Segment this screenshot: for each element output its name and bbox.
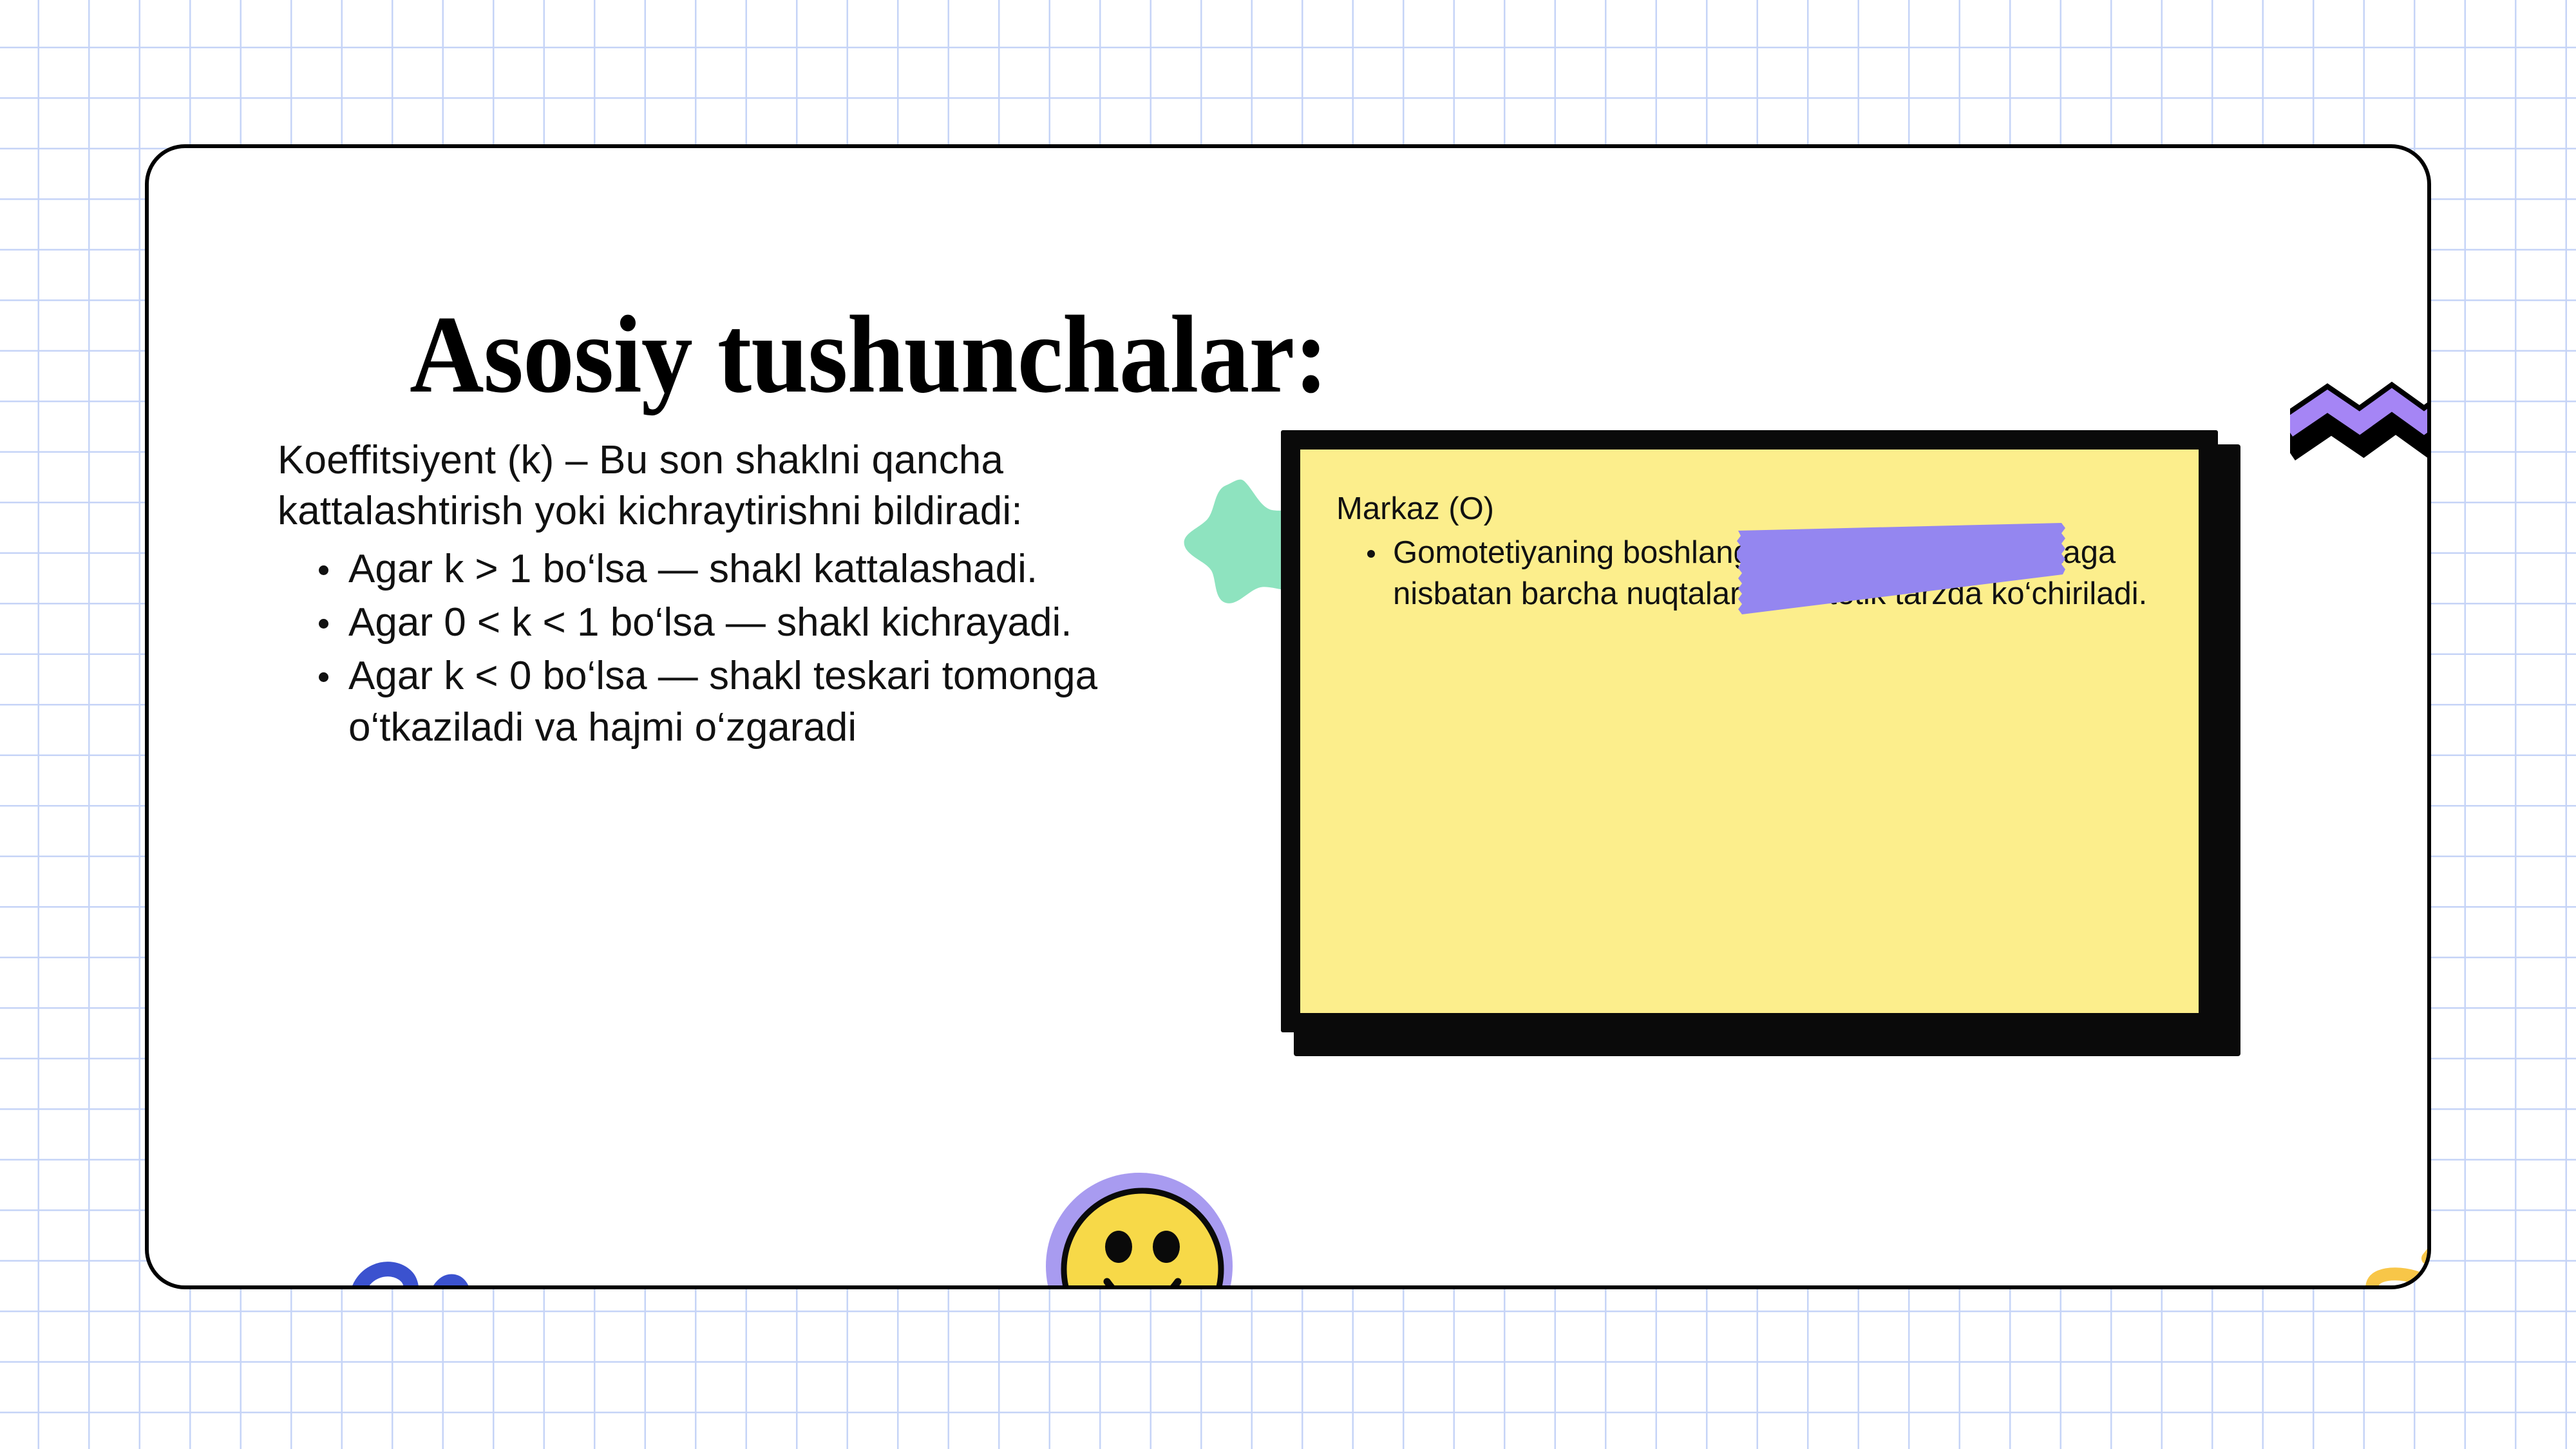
list-item: Agar k < 0 bo‘lsa — shakl teskari tomong… bbox=[317, 650, 1192, 753]
squiggle-icon bbox=[336, 1243, 542, 1289]
left-content-column: Koeffitsiyent (k) – Bu son shaklni qanch… bbox=[278, 435, 1192, 755]
lead-paragraph: Koeffitsiyent (k) – Bu son shaklni qanch… bbox=[278, 435, 1192, 537]
list-item: Agar 0 < k < 1 bo‘lsa — shakl kichrayadi… bbox=[317, 597, 1192, 648]
zigzag-icon bbox=[2290, 377, 2431, 460]
page-title: Asosiy tushunchalar: bbox=[410, 299, 1328, 410]
coefficient-bullet-list: Agar k > 1 bo‘lsa — shakl kattalashadi. … bbox=[278, 544, 1192, 753]
smiley-face-icon bbox=[1037, 1164, 1244, 1289]
list-item: Agar k > 1 bo‘lsa — shakl kattalashadi. bbox=[317, 544, 1192, 594]
curly-arrow-icon bbox=[2342, 1190, 2431, 1289]
slide-card: Asosiy tushunchalar: Koeffitsiyent (k) –… bbox=[145, 144, 2431, 1289]
slide-root: Asosiy tushunchalar: Koeffitsiyent (k) –… bbox=[0, 0, 2576, 1449]
tape-icon bbox=[1734, 520, 2069, 623]
